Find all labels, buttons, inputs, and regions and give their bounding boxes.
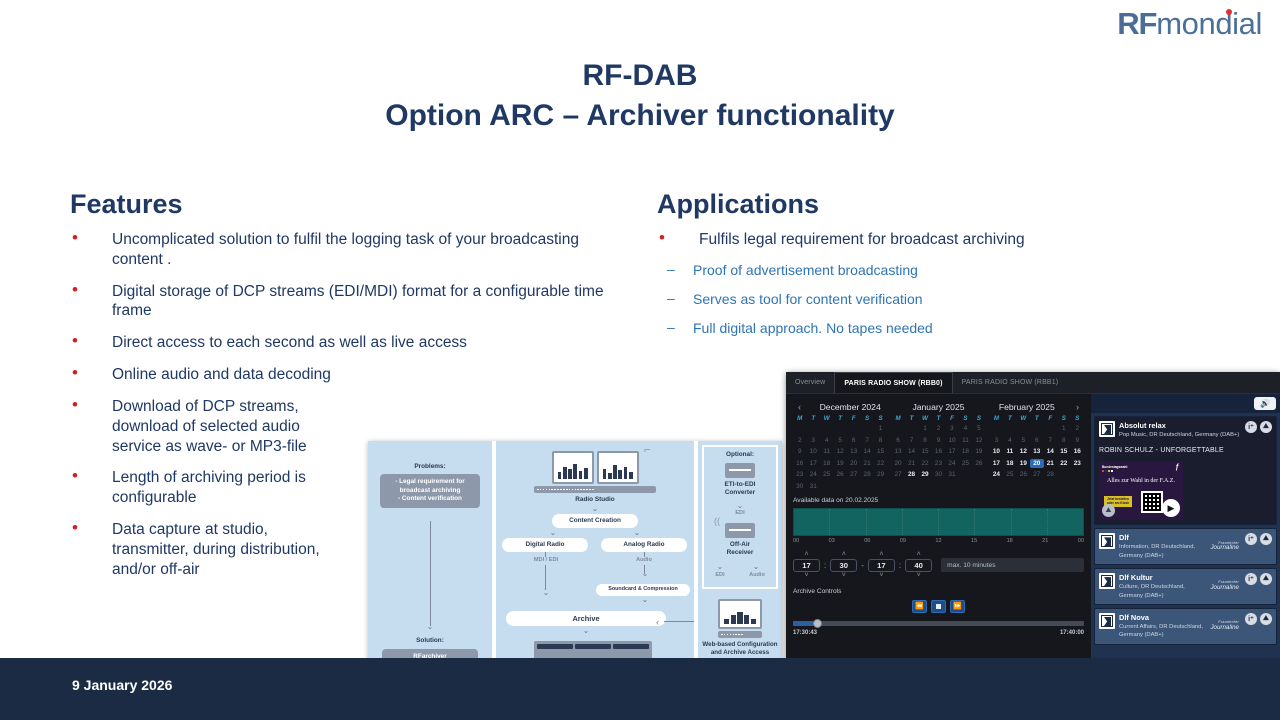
start-hour-stepper[interactable]: ˄ 17 ˅	[793, 551, 820, 580]
calendar-day[interactable]: 5	[833, 436, 846, 445]
calendar-dow: M	[990, 415, 1003, 422]
tab-paris-radio-show-rbb1[interactable]: PARIS RADIO SHOW (RBB1)	[953, 372, 1068, 393]
calendar-dow: S	[959, 415, 972, 422]
list-item: Fulfils legal requirement for broadcast …	[657, 230, 1147, 250]
logo-red-dot-icon	[1226, 9, 1232, 15]
journaline-logo: Fraunhofer Journaline	[1210, 621, 1241, 631]
list-item: Length of archiving period is configurab…	[70, 468, 340, 508]
service-action-icons: i⁺ ⛰	[1245, 533, 1272, 560]
calendar-dow: S	[972, 415, 985, 422]
antenna-waves-icon: ((	[714, 517, 720, 526]
calendar-day[interactable]: 11	[959, 436, 972, 445]
stepper-up-icon[interactable]: ˄	[804, 551, 808, 559]
calendar-day[interactable]: 23	[932, 459, 945, 468]
calendar-dow-row: MTWTFSS	[891, 415, 985, 422]
calendar-blank	[820, 424, 833, 433]
calendar-day[interactable]: 29	[874, 470, 887, 479]
calendar-day[interactable]: 5	[1017, 436, 1030, 445]
calendar-day[interactable]: 11	[1003, 447, 1016, 456]
available-data-ticks: 000306091215182100	[793, 538, 1084, 544]
calendar-day[interactable]: 14	[860, 447, 873, 456]
applications-heading: Applications	[657, 189, 819, 220]
calendar-day[interactable]: 12	[833, 447, 846, 456]
edi-label: EDI	[698, 510, 782, 516]
stepper-down-icon[interactable]: ˅	[842, 572, 846, 580]
qr-code-icon	[1141, 491, 1163, 513]
playback-slider[interactable]	[793, 619, 1084, 628]
list-item: Data capture at studio, transmitter, dur…	[70, 520, 320, 579]
available-data-tick: 18	[1007, 538, 1013, 544]
slideshow-icon[interactable]: ⛰	[1260, 573, 1272, 585]
calendar-dow-row: MTWTFSS	[793, 415, 887, 422]
chevron-down-icon: ⌄	[627, 529, 647, 537]
info-icon[interactable]: i⁺	[1245, 573, 1257, 585]
calendar-day[interactable]: 29	[918, 470, 931, 479]
calendar-day[interactable]: 21	[1044, 459, 1057, 468]
slide-brand-icon: ƒ	[1175, 464, 1179, 471]
calendar-day[interactable]: 25	[820, 470, 833, 479]
calendar-day[interactable]: 23	[1071, 459, 1084, 468]
available-data-title: Available data on 20.02.2025	[793, 497, 1084, 504]
flow-line	[664, 621, 694, 622]
stepper-up-icon[interactable]: ˄	[917, 551, 921, 559]
info-icon[interactable]: i⁺	[1245, 421, 1257, 433]
available-data-tick: 12	[935, 538, 941, 544]
stepper-down-icon[interactable]: ˅	[879, 572, 883, 580]
footer-date: 9 January 2026	[72, 677, 172, 693]
calendar-day[interactable]: 1	[918, 424, 931, 433]
service-meta: Current Affairs, DR Deutschland, Germany…	[1119, 623, 1206, 640]
stepper-down-icon[interactable]: ˅	[917, 572, 921, 580]
web-config-laptop-icon	[718, 599, 762, 638]
calendar-day[interactable]: 13	[847, 447, 860, 456]
calendar-header: ‹ December 2024 January 2025 February 20…	[793, 400, 1084, 415]
service-meta: Information, DR Deutschland, Germany (DA…	[1119, 543, 1206, 560]
chevron-down-icon: ⌄	[698, 502, 782, 510]
calendar-dow: T	[1003, 415, 1016, 422]
calendar-day[interactable]: 14	[1044, 447, 1057, 456]
offair-receiver-icon	[725, 523, 755, 538]
calendar-blank	[891, 424, 904, 433]
list-item[interactable]: Dlf Information, DR Deutschland, Germany…	[1094, 528, 1277, 565]
journaline-text: Journaline	[1210, 584, 1239, 591]
calendar-dow: S	[874, 415, 887, 422]
list-item[interactable]: Absolut relax Pop Music, DR Deutschland,…	[1094, 416, 1277, 525]
now-playing-text: ROBIN SCHULZ - UNFORGETTABLE	[1099, 447, 1272, 454]
calendar-dow: F	[847, 415, 860, 422]
calendar-day[interactable]: 24	[945, 459, 958, 468]
page-title: RF-DAB Option ARC – Archiver functionali…	[0, 56, 1280, 136]
logo-mondial-text: mondial	[1156, 6, 1262, 41]
stepper-up-icon[interactable]: ˄	[842, 551, 846, 559]
problems-box: - Legal requirement for broadcast archiv…	[380, 474, 480, 508]
calendar-day[interactable]: 31	[945, 470, 958, 479]
play-icon[interactable]: ▶	[1162, 499, 1180, 517]
calendar-blank	[1030, 424, 1043, 433]
calendar-day[interactable]: 20	[891, 459, 904, 468]
journaline-text: Journaline	[1210, 624, 1239, 631]
calendar-day[interactable]: 27	[891, 470, 904, 479]
calendar-day[interactable]: 24	[990, 470, 1003, 479]
calendar-blank	[833, 424, 846, 433]
calendar-day[interactable]: 30	[932, 470, 945, 479]
chevron-left-icon: ‹	[656, 617, 659, 627]
calendar-month-label-1: January 2025	[894, 402, 982, 412]
eti-converter-icon	[725, 463, 755, 478]
archive-controls-panel: Archive Controls ⏪ ⏩ 17:30:43 17:40:00	[793, 588, 1084, 640]
calendar-day[interactable]: 18	[959, 447, 972, 456]
calendar-day[interactable]: 17	[806, 459, 819, 468]
calendar-dow: W	[1017, 415, 1030, 422]
features-heading: Features	[70, 189, 183, 220]
footer-band	[0, 658, 1280, 720]
calendar-days[interactable]: 1234567891011121314151617181920212223242…	[891, 424, 985, 479]
calendar-day[interactable]: 4	[959, 424, 972, 433]
chevron-down-icon: ⌄	[543, 529, 563, 537]
chevron-down-icon: ⌄	[536, 589, 556, 597]
list-item: Proof of advertisement broadcasting	[657, 262, 1147, 280]
calendar-day[interactable]: 16	[932, 447, 945, 456]
slide-canvas: RFmondial RF-DAB Option ARC – Archiver f…	[0, 0, 1280, 720]
archive-box: Archive	[506, 611, 666, 626]
calendar-day[interactable]: 19	[972, 447, 985, 456]
max-duration-label: max. 10 minutes	[941, 558, 1084, 572]
service-toolbar: 🔊	[1091, 394, 1280, 413]
flow-line	[545, 565, 546, 590]
edi-label-2: EDI	[706, 572, 734, 578]
calendar-day[interactable]: 26	[833, 470, 846, 479]
calendar-day[interactable]: 3	[806, 436, 819, 445]
slider-fill	[793, 621, 813, 626]
calendar-day[interactable]: 2	[1071, 424, 1084, 433]
calendar-day[interactable]: 22	[1057, 459, 1070, 468]
info-icon[interactable]: i⁺	[1245, 533, 1257, 545]
calendar-blank	[1003, 424, 1016, 433]
calendar-day[interactable]: 8	[1057, 436, 1070, 445]
calendar-widget: ‹ December 2024 January 2025 February 20…	[793, 400, 1084, 491]
calendar-day[interactable]: 31	[806, 482, 819, 491]
calendar-day[interactable]: 14	[905, 447, 918, 456]
calendar-dow: M	[793, 415, 806, 422]
dab-service-icon	[1099, 573, 1115, 589]
slide-headline: Alles zur Wahl in der F.A.Z.	[1103, 478, 1179, 484]
calendar-blank	[1017, 424, 1030, 433]
calendar-day[interactable]: 2	[793, 436, 806, 445]
audio-label: Audio	[614, 557, 674, 563]
calendar-day[interactable]: 15	[918, 447, 931, 456]
calendar-blank	[905, 424, 918, 433]
calendar-blank	[847, 424, 860, 433]
calendar-blank	[793, 424, 806, 433]
calendar-day[interactable]: 5	[972, 424, 985, 433]
calendar-day[interactable]: 18	[820, 459, 833, 468]
logo-rf-text: RF	[1117, 6, 1156, 41]
calendar-day[interactable]: 13	[891, 447, 904, 456]
calendar-day[interactable]: 30	[793, 482, 806, 491]
slider-times: 17:30:43 17:40:00	[793, 630, 1084, 636]
problems-label: Problems:	[368, 463, 492, 471]
calendar-day[interactable]: 27	[847, 470, 860, 479]
calendar-day[interactable]: 22	[874, 459, 887, 468]
start-hour-value[interactable]: 17	[793, 559, 820, 572]
calendar-dow: S	[1071, 415, 1084, 422]
calendar-day[interactable]: 11	[820, 447, 833, 456]
chevron-down-icon: ⌄	[576, 627, 596, 635]
microphone-boom-icon: ⌐	[644, 445, 650, 456]
dab-service-icon	[1099, 533, 1115, 549]
eti-converter-label: ETI-to-EDI Converter	[698, 481, 782, 497]
calendar-dow: F	[945, 415, 958, 422]
calendar-next-icon[interactable]: ›	[1071, 402, 1084, 412]
service-list: Absolut relax Pop Music, DR Deutschland,…	[1091, 413, 1280, 648]
calendar-blank	[860, 424, 873, 433]
calendar-month-january: MTWTFSS 12345678910111213141516171819202…	[891, 415, 985, 491]
service-info: Dlf Nova Current Affairs, DR Deutschland…	[1119, 613, 1206, 640]
available-data-tick: 15	[971, 538, 977, 544]
calendar-dow: T	[932, 415, 945, 422]
available-data-tick: 00	[793, 538, 799, 544]
slider-track[interactable]	[793, 621, 1084, 626]
available-data-tick: 21	[1042, 538, 1048, 544]
calendar-dow: S	[860, 415, 873, 422]
calendar-day[interactable]: 12	[972, 436, 985, 445]
calendar-day[interactable]: 19	[1017, 459, 1030, 468]
info-icon[interactable]: i⁺	[1245, 613, 1257, 625]
end-hour-value[interactable]: 17	[868, 559, 895, 572]
tab-bar: Overview PARIS RADIO SHOW (RBB0) PARIS R…	[786, 372, 1280, 394]
slide-thumb-icon: ⛰	[1102, 504, 1115, 517]
radio-studio-icon	[534, 451, 656, 493]
stepper-up-icon[interactable]: ˄	[879, 551, 883, 559]
calendar-day[interactable]: 10	[945, 436, 958, 445]
calendar-day[interactable]: 16	[793, 459, 806, 468]
chevron-down-icon: ⌄	[744, 563, 768, 571]
calendar-day[interactable]: 28	[1044, 470, 1057, 479]
service-action-icons: i⁺ ⛰	[1245, 421, 1272, 439]
calendar-blank	[806, 424, 819, 433]
end-minute-value[interactable]: 40	[905, 559, 932, 572]
calendar-day[interactable]: 2	[932, 424, 945, 433]
available-data-tick: 03	[829, 538, 835, 544]
list-item[interactable]: Dlf Nova Current Affairs, DR Deutschland…	[1094, 608, 1277, 645]
calendar-day[interactable]: 6	[847, 436, 860, 445]
start-minute-stepper[interactable]: ˄ 30 ˅	[830, 551, 857, 580]
calendar-day[interactable]: 19	[833, 459, 846, 468]
applications-sub-list: Proof of advertisement broadcasting Serv…	[657, 262, 1147, 338]
dab-service-icon	[1099, 613, 1115, 629]
list-item: Uncomplicated solution to fulfil the log…	[70, 230, 610, 270]
journaline-logo: Fraunhofer Journaline	[1210, 581, 1241, 591]
list-item: Download of DCP streams, download of sel…	[70, 397, 340, 456]
calendar-dow: T	[1030, 415, 1043, 422]
digital-radio-box: Digital Radio	[502, 538, 588, 552]
calendar-day[interactable]: 25	[959, 459, 972, 468]
playback-time-end: 17:40:00	[1060, 630, 1084, 636]
service-name: Dlf	[1119, 533, 1206, 542]
calendar-day[interactable]: 10	[806, 447, 819, 456]
calendar-day[interactable]: 22	[918, 459, 931, 468]
mdi-edi-label: MDI / EDI	[516, 557, 576, 563]
calendar-day[interactable]: 26	[1017, 470, 1030, 479]
calendar-day[interactable]: 17	[990, 459, 1003, 468]
calendar-day[interactable]: 8	[874, 436, 887, 445]
calendar-day[interactable]: 12	[1017, 447, 1030, 456]
service-action-icons: i⁺ ⛰	[1245, 613, 1272, 640]
solution-label: Solution:	[368, 637, 492, 645]
range-dash: -	[860, 561, 865, 570]
slideshow-image[interactable]: Bundestagswahl ƒ Alles zur Wahl in der F…	[1099, 462, 1183, 520]
calendar-day[interactable]: 20	[847, 459, 860, 468]
calendar-day[interactable]: 21	[905, 459, 918, 468]
calendar-dow: W	[918, 415, 931, 422]
content-creation-box: Content Creation	[552, 514, 638, 528]
archive-controls-title: Archive Controls	[793, 588, 1084, 595]
calendar-day[interactable]: 27	[1030, 470, 1043, 479]
calendar-day[interactable]: 1	[1057, 424, 1070, 433]
end-minute-stepper[interactable]: ˄ 40 ˅	[905, 551, 932, 580]
chevron-down-icon: ⌄	[635, 596, 655, 604]
chevron-down-icon: ⌄	[496, 505, 694, 513]
service-name: Absolut relax	[1119, 421, 1241, 430]
slide-top-label: Bundestagswahl	[1102, 465, 1127, 469]
calendar-day[interactable]: 9	[793, 447, 806, 456]
list-item: Direct access to each second as well as …	[70, 333, 610, 353]
calendar-day[interactable]: 24	[806, 470, 819, 479]
time-range-selector: ˄ 17 ˅ : ˄ 30 ˅ - ˄ 17 ˅	[793, 551, 1084, 580]
calendar-day[interactable]: 9	[932, 436, 945, 445]
service-name: Dlf Kultur	[1119, 573, 1206, 582]
available-data-bar[interactable]	[793, 508, 1084, 536]
archive-control-buttons: ⏪ ⏩	[793, 600, 1084, 613]
available-data-tick: 06	[864, 538, 870, 544]
calendar-dow: M	[891, 415, 904, 422]
calendar-day[interactable]: 10	[990, 447, 1003, 456]
service-info: Dlf Kultur Culture, DR Deutschland, Germ…	[1119, 573, 1206, 600]
calendar-months: MTWTFSS 12345678910111213141516171819202…	[793, 415, 1084, 491]
calendar-blank	[990, 424, 1003, 433]
calendar-day[interactable]: 20	[1030, 459, 1043, 468]
dab-service-icon	[1099, 421, 1115, 437]
calendar-day[interactable]: 3	[945, 424, 958, 433]
tab-overview[interactable]: Overview	[786, 372, 834, 393]
applications-list: Fulfils legal requirement for broadcast …	[657, 230, 1147, 349]
calendar-month-december: MTWTFSS 12345678910111213141516171819202…	[793, 415, 887, 491]
available-data-tick: 00	[1078, 538, 1084, 544]
calendar-month-label-0: December 2024	[806, 402, 894, 412]
calendar-day[interactable]: 15	[1057, 447, 1070, 456]
title-line-1: RF-DAB	[0, 56, 1280, 96]
slide-dots-icon	[1102, 470, 1113, 472]
available-data-panel: Available data on 20.02.2025 00030609121…	[793, 497, 1084, 544]
title-line-2: Option ARC – Archiver functionality	[0, 96, 1280, 136]
calendar-dow-row: MTWTFSS	[990, 415, 1084, 422]
calendar-day[interactable]: 15	[874, 447, 887, 456]
chevron-down-icon: ⌄	[635, 570, 655, 578]
calendar-day[interactable]: 9	[1071, 436, 1084, 445]
offair-receiver-label: Off-Air Receiver	[698, 541, 782, 557]
end-hour-stepper[interactable]: ˄ 17 ˅	[868, 551, 895, 580]
service-name: Dlf Nova	[1119, 613, 1206, 622]
calendar-dow: T	[806, 415, 819, 422]
calendar-day[interactable]: 6	[891, 436, 904, 445]
calendar-day[interactable]: 7	[860, 436, 873, 445]
audio-label-2: Audio	[742, 572, 772, 578]
journaline-text: Journaline	[1210, 544, 1239, 551]
analog-radio-box: Analog Radio	[601, 538, 687, 552]
calendar-days[interactable]: 1234567891011121314151617181920212223242…	[990, 424, 1084, 479]
optional-label: Optional:	[698, 451, 782, 459]
calendar-day[interactable]: 13	[1030, 447, 1043, 456]
speaker-icon[interactable]: 🔊	[1254, 397, 1276, 410]
forward-button[interactable]: ⏩	[950, 600, 965, 613]
calendar-day[interactable]: 6	[1030, 436, 1043, 445]
tab-paris-radio-show-rbb0[interactable]: PARIS RADIO SHOW (RBB0)	[834, 372, 952, 393]
calendar-day[interactable]: 18	[1003, 459, 1016, 468]
slideshow-icon[interactable]: ⛰	[1260, 533, 1272, 545]
web-config-label: Web-based Configuration and Archive Acce…	[698, 641, 782, 657]
service-action-icons: i⁺ ⛰	[1245, 573, 1272, 600]
calendar-day[interactable]: 23	[793, 470, 806, 479]
calendar-month-label-2: February 2025	[983, 402, 1071, 412]
service-meta: Pop Music, DR Deutschland, Germany (DAB+…	[1119, 431, 1241, 439]
rewind-button[interactable]: ⏪	[912, 600, 927, 613]
list-item: Full digital approach. No tapes needed	[657, 320, 1147, 338]
list-item: Serves as tool for content verification	[657, 291, 1147, 309]
available-data-tick: 09	[900, 538, 906, 544]
calendar-day[interactable]: 7	[1044, 436, 1057, 445]
calendar-day[interactable]: 16	[1071, 447, 1084, 456]
time-separator: :	[823, 561, 827, 570]
calendar-day[interactable]: 8	[918, 436, 931, 445]
stop-button[interactable]	[931, 600, 946, 613]
journaline-logo: Fraunhofer Journaline	[1210, 542, 1241, 552]
calendar-day[interactable]: 1	[874, 424, 887, 433]
chevron-down-icon: ⌄	[368, 623, 492, 631]
calendar-dow: W	[820, 415, 833, 422]
calendar-day[interactable]: 7	[905, 436, 918, 445]
playback-time-start: 17:30:43	[793, 630, 817, 636]
slider-knob[interactable]	[813, 619, 822, 628]
calendar-day[interactable]: 28	[905, 470, 918, 479]
calendar-blank	[1044, 424, 1057, 433]
calendar-day[interactable]: 4	[820, 436, 833, 445]
slideshow-icon[interactable]: ⛰	[1260, 421, 1272, 433]
slideshow-icon[interactable]: ⛰	[1260, 613, 1272, 625]
calendar-dow: F	[1044, 415, 1057, 422]
service-meta: Culture, DR Deutschland, Germany (DAB+)	[1119, 583, 1206, 600]
calendar-day[interactable]: 21	[860, 459, 873, 468]
calendar-day[interactable]: 26	[972, 459, 985, 468]
list-item[interactable]: Dlf Kultur Culture, DR Deutschland, Germ…	[1094, 568, 1277, 605]
calendar-day[interactable]: 4	[1003, 436, 1016, 445]
calendar-prev-icon[interactable]: ‹	[793, 402, 806, 412]
calendar-day[interactable]: 28	[860, 470, 873, 479]
calendar-day[interactable]: 17	[945, 447, 958, 456]
service-info: Dlf Information, DR Deutschland, Germany…	[1119, 533, 1206, 560]
calendar-dow: T	[905, 415, 918, 422]
calendar-month-february: MTWTFSS 12345678910111213141516171819202…	[990, 415, 1084, 491]
calendar-days[interactable]: 1234567891011121314151617181920212223242…	[793, 424, 887, 491]
radio-studio-label: Radio Studio	[496, 496, 694, 504]
calendar-day[interactable]: 3	[990, 436, 1003, 445]
calendar-dow: S	[1057, 415, 1070, 422]
list-item: Digital storage of DCP streams (EDI/MDI)…	[70, 282, 610, 322]
calendar-day[interactable]: 25	[1003, 470, 1016, 479]
start-minute-value[interactable]: 30	[830, 559, 857, 572]
flow-line	[430, 521, 431, 626]
time-separator: :	[898, 561, 902, 570]
stepper-down-icon[interactable]: ˅	[804, 572, 808, 580]
